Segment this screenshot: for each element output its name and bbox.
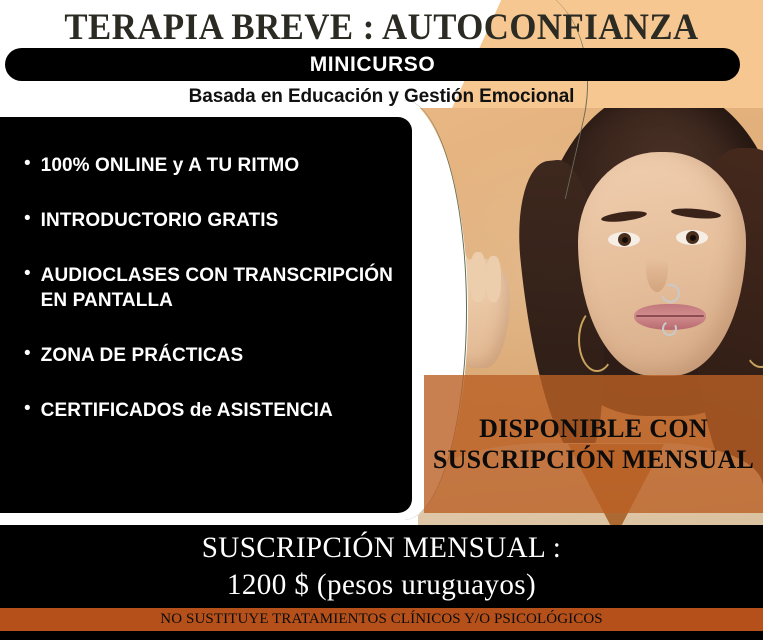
promo-poster: TERAPIA BREVE : AUTOCONFIANZA MINICURSO … bbox=[0, 0, 763, 640]
eye-right bbox=[676, 230, 708, 245]
feature-label: ZONA DE PRÁCTICAS bbox=[41, 343, 244, 368]
feature-label: CERTIFICADOS de ASISTENCIA bbox=[41, 398, 333, 423]
feature-item: • AUDIOCLASES CON TRANSCRIPCIÓN EN PANTA… bbox=[0, 263, 412, 313]
bullet-icon: • bbox=[24, 343, 31, 364]
feature-label: 100% ONLINE y A TU RITMO bbox=[41, 153, 300, 178]
feature-item: • CERTIFICADOS de ASISTENCIA bbox=[0, 398, 412, 423]
feature-item: • 100% ONLINE y A TU RITMO bbox=[0, 153, 412, 178]
hoop-earring-left bbox=[578, 308, 616, 372]
feature-item: • ZONA DE PRÁCTICAS bbox=[0, 343, 412, 368]
bullet-icon: • bbox=[24, 398, 31, 419]
availability-box: DISPONIBLE CON SUSCRIPCIÓN MENSUAL bbox=[424, 375, 763, 513]
finger-2 bbox=[470, 252, 486, 302]
minicurso-badge-label: MINICURSO bbox=[310, 53, 436, 77]
feature-label: INTRODUCTORIO GRATIS bbox=[41, 208, 279, 233]
feature-label: AUDIOCLASES CON TRANSCRIPCIÓN EN PANTALL… bbox=[41, 263, 412, 313]
bottom-black-strip bbox=[0, 631, 763, 640]
page-subtitle: Basada en Educación y Gestión Emocional bbox=[0, 86, 763, 108]
price-label: SUSCRIPCIÓN MENSUAL : bbox=[11, 531, 751, 565]
page-title: TERAPIA BREVE : AUTOCONFIANZA bbox=[23, 6, 740, 49]
feature-item: • INTRODUCTORIO GRATIS bbox=[0, 208, 412, 233]
bullet-icon: • bbox=[24, 263, 31, 284]
finger-3 bbox=[486, 256, 501, 302]
availability-label: DISPONIBLE CON SUSCRIPCIÓN MENSUAL bbox=[424, 413, 763, 475]
disclaimer-bar: NO SUSTITUYE TRATAMIENTOS CLÍNICOS Y/O P… bbox=[0, 608, 763, 631]
disclaimer-text: NO SUSTITUYE TRATAMIENTOS CLÍNICOS Y/O P… bbox=[160, 611, 602, 628]
price-block: SUSCRIPCIÓN MENSUAL : 1200 $ (pesos urug… bbox=[0, 525, 763, 608]
minicurso-badge: MINICURSO bbox=[5, 48, 740, 81]
price-value: 1200 $ (pesos uruguayos) bbox=[11, 568, 751, 602]
bullet-icon: • bbox=[24, 208, 31, 229]
bullet-icon: • bbox=[24, 153, 31, 174]
features-panel: • 100% ONLINE y A TU RITMO • INTRODUCTOR… bbox=[0, 117, 412, 513]
eye-left bbox=[608, 232, 640, 247]
lip-line bbox=[636, 315, 704, 317]
